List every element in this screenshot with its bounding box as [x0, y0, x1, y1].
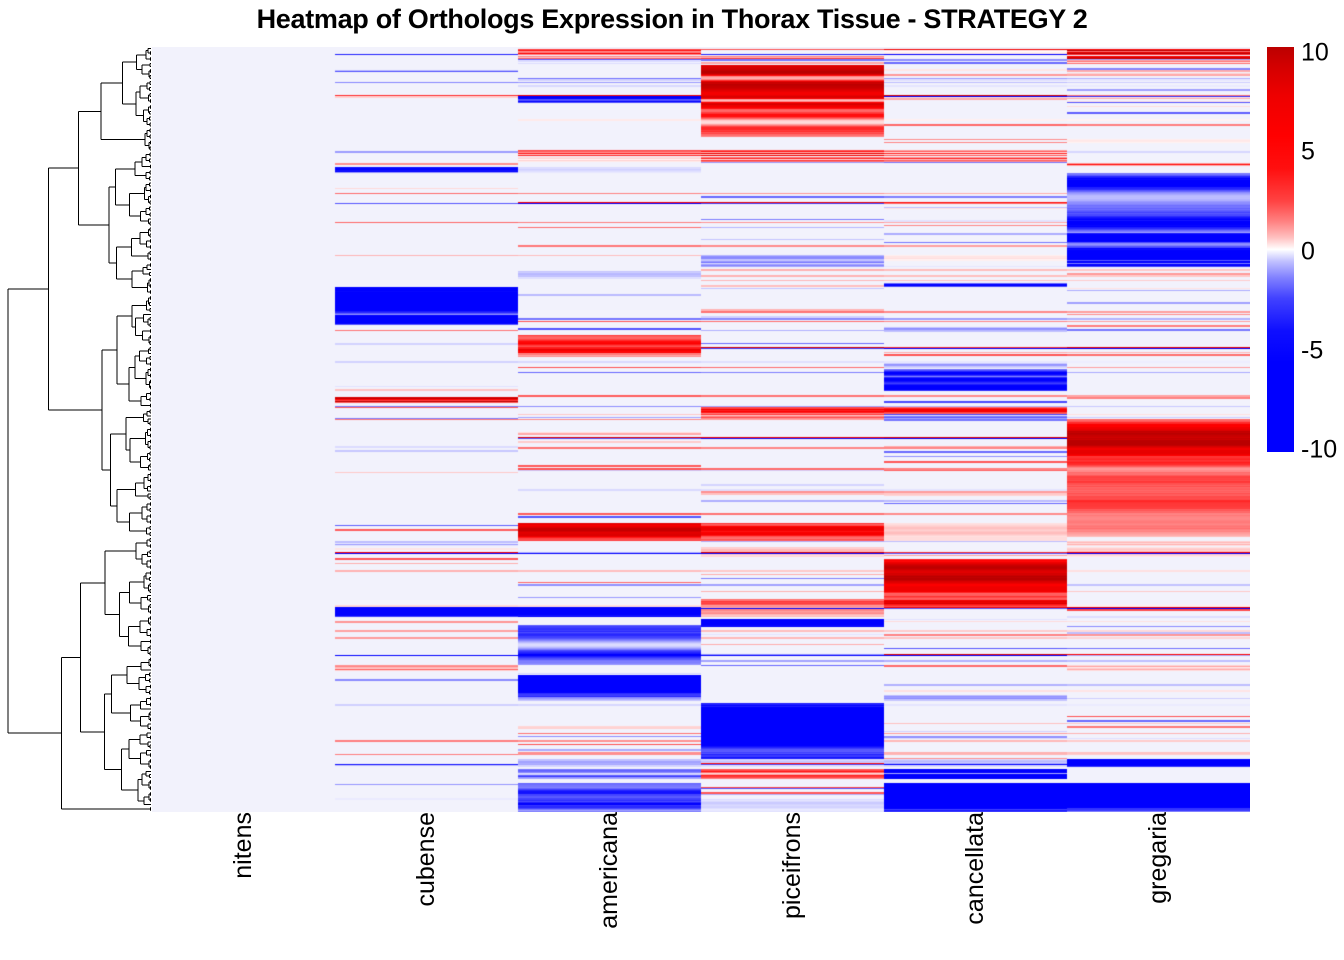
- page-title: Heatmap of Orthologs Expression in Thora…: [0, 4, 1344, 35]
- colorbar-tick-neg10: -10: [1301, 436, 1337, 465]
- column-label-americana: americana: [518, 812, 701, 960]
- dendrogram-branches: [8, 48, 151, 810]
- heatmap-canvas: [152, 47, 1250, 812]
- colorbar-tick-neg5: -5: [1301, 337, 1323, 366]
- expression-colorbar: 10 5 0 -5 -10: [1267, 47, 1344, 467]
- heatmap-grid: [152, 47, 1250, 812]
- column-label-text: cancellata: [963, 812, 988, 929]
- column-label-text: piceifrons: [780, 812, 805, 923]
- colorbar-tick-5: 5: [1301, 138, 1315, 167]
- column-label-cubense: cubense: [335, 812, 518, 960]
- column-label-text: cubense: [414, 812, 439, 911]
- colorbar-gradient: [1267, 47, 1294, 452]
- column-label-text: nitens: [231, 812, 256, 883]
- column-label-cancellata: cancellata: [884, 812, 1067, 960]
- x-axis-labels: nitens cubense americana piceifrons canc…: [152, 812, 1250, 960]
- column-label-nitens: nitens: [152, 812, 335, 960]
- colorbar-tick-0: 0: [1301, 238, 1315, 267]
- column-label-piceifrons: piceifrons: [701, 812, 884, 960]
- heatmap-figure: Heatmap of Orthologs Expression in Thora…: [0, 0, 1344, 960]
- colorbar-tick-10: 10: [1301, 39, 1329, 68]
- row-dendrogram: [0, 47, 152, 812]
- column-label-gregaria: gregaria: [1067, 812, 1250, 960]
- dendrogram-svg: [0, 47, 152, 812]
- column-label-text: americana: [597, 812, 622, 933]
- column-label-text: gregaria: [1146, 812, 1171, 908]
